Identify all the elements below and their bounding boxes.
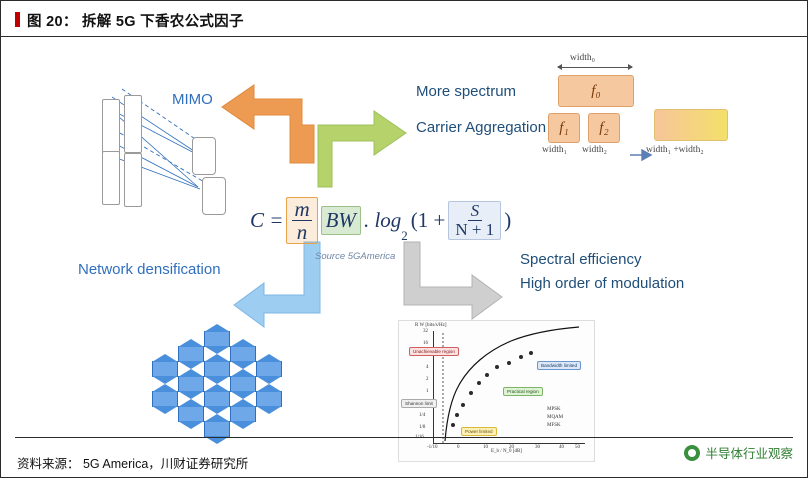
plot-annotation-practical-region: Practical region — [503, 387, 543, 396]
label-spectral-efficiency: Spectral efficiency — [520, 251, 641, 268]
spectrum-block-f0: f₀ — [558, 75, 634, 107]
label-high-order-modulation: High order of modulation — [520, 275, 684, 292]
formula-mimo-fraction: m n — [286, 197, 317, 244]
diagram-canvas: MIMO Network densification C = m n BW . … — [2, 37, 807, 435]
formula-source-note: Source 5GAmerica — [315, 251, 395, 262]
spectrum-block-merged — [654, 109, 728, 141]
formula-sn-denominator: N + 1 — [455, 221, 494, 239]
plot-legend-mfsk: MFSK — [547, 423, 561, 428]
label-carrier-aggregation: Carrier Aggregation — [416, 119, 546, 136]
watermark-text: 半导体行业观察 — [705, 443, 793, 462]
formula-mimo-denominator: n — [295, 221, 310, 243]
antenna-sketch — [94, 95, 229, 220]
plot-curve — [399, 321, 594, 461]
formula-mimo-numerator: m — [292, 198, 311, 221]
source-note: 资料来源： 5G America，川财证券研究所 — [17, 453, 248, 472]
width1-label: width₁ — [542, 145, 567, 155]
width0-dimline — [558, 67, 632, 68]
width0-label: width₀ — [570, 53, 595, 63]
plot-annotation-power-limited: Power limited — [461, 427, 497, 436]
formula-open-paren: (1 + — [411, 208, 446, 233]
spectrum-f0-label: f₀ — [591, 83, 600, 100]
page-title: 图 20： 拆解 5G 下香农公式因子 — [27, 10, 244, 31]
spectrum-block-f2: f₂ — [588, 113, 620, 143]
cell-hexagon-cluster — [160, 325, 272, 425]
formula-close-paren: ) — [504, 208, 511, 233]
header-accent-bar — [15, 12, 20, 27]
plot-legend-mqam: MQAM — [547, 415, 563, 420]
formula-bandwidth: BW — [321, 206, 361, 235]
watermark-logo-icon — [684, 445, 700, 461]
spectral-efficiency-plot: R W [bits/s/Hz] E_b / N_0 [dB] 32 16 8 4… — [398, 320, 595, 462]
watermark: 半导体行业观察 — [684, 443, 793, 462]
plot-legend-mpsk: MPSK — [547, 407, 561, 412]
shannon-formula: C = m n BW . log 2 (1 + S N + 1 ) — [250, 197, 511, 244]
footer-divider — [15, 437, 793, 438]
label-more-spectrum: More spectrum — [416, 83, 516, 100]
formula-log: . log — [364, 208, 401, 233]
plot-annotation-shannon-limit: Shannon limit — [401, 399, 437, 408]
label-mimo: MIMO — [172, 91, 213, 108]
figure-header: 图 20： 拆解 5G 下香农公式因子 — [1, 1, 807, 37]
spectrum-f2-label: f₂ — [599, 120, 608, 137]
width2-label: width₂ — [582, 145, 607, 155]
formula-log-base: 2 — [401, 228, 408, 244]
figure-root: 图 20： 拆解 5G 下香农公式因子 — [0, 0, 808, 478]
width-sum-label: width₁ +width₂ — [646, 145, 704, 155]
spectrum-f1-label: f₁ — [559, 120, 568, 137]
label-network-densification: Network densification — [78, 261, 221, 278]
formula-sn-fraction: S N + 1 — [448, 201, 501, 240]
plot-annotation-unachievable: Unachievable region — [409, 347, 459, 356]
formula-sn-numerator: S — [468, 202, 483, 221]
spectrum-block-f1: f₁ — [548, 113, 580, 143]
plot-annotation-bandwidth-limited: Bandwidth limited — [537, 361, 581, 370]
formula-lhs: C = — [250, 208, 283, 233]
